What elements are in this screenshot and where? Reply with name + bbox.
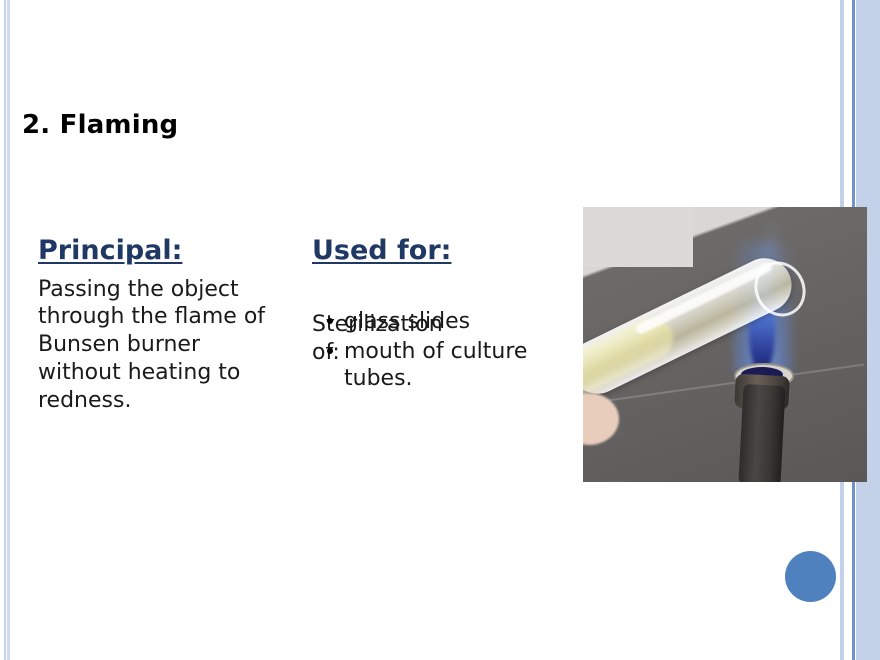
left-rail-outer — [4, 0, 6, 660]
flaming-photo — [583, 207, 867, 482]
list-item: mouth of culture tubes. — [344, 338, 544, 393]
principal-heading: Principal: — [38, 236, 288, 266]
used-for-column: Used for: — [312, 236, 522, 266]
principal-column: Principal: Passing the object through th… — [38, 236, 288, 414]
photo-wall-highlight — [583, 207, 693, 267]
slide-canvas: 2. Flaming Principal: Passing the object… — [0, 0, 880, 660]
principal-body: Passing the object through the flame of … — [38, 276, 288, 415]
burner-barrel — [738, 384, 785, 482]
blue-circle-decoration — [785, 551, 836, 602]
left-rail-inner — [7, 0, 10, 660]
list-item: glass slides — [344, 308, 544, 336]
used-for-heading: Used for: — [312, 236, 522, 266]
slide-title: 2. Flaming — [22, 110, 178, 140]
used-for-bullet-list: glass slides mouth of culture tubes. — [318, 308, 544, 395]
